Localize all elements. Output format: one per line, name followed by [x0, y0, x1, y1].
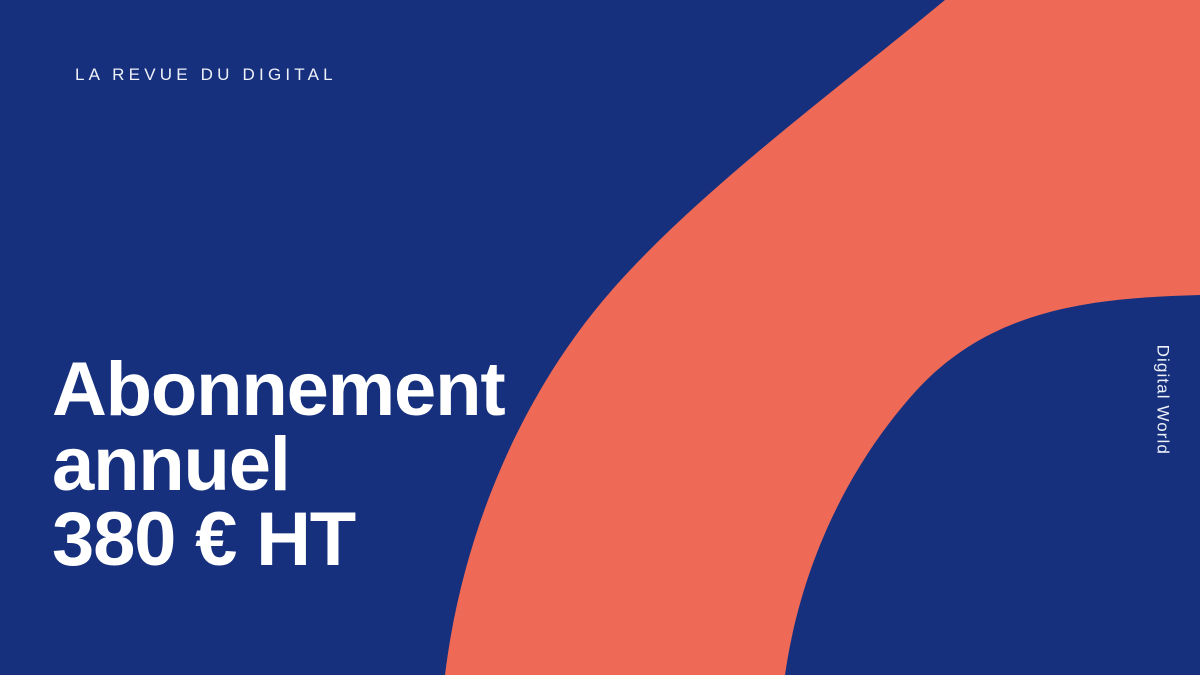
headline-line-2: annuel — [52, 427, 504, 502]
headline-line-3-price: 380 € HT — [52, 502, 504, 577]
page-title: Abonnement annuel 380 € HT — [52, 352, 504, 578]
promo-slide: LA REVUE DU DIGITAL Abonnement annuel 38… — [0, 0, 1200, 675]
side-caption: Digital World — [1154, 345, 1171, 455]
slide-content: LA REVUE DU DIGITAL Abonnement annuel 38… — [0, 0, 1200, 675]
headline-line-1: Abonnement — [52, 352, 504, 427]
brand-eyebrow: LA REVUE DU DIGITAL — [75, 65, 337, 85]
